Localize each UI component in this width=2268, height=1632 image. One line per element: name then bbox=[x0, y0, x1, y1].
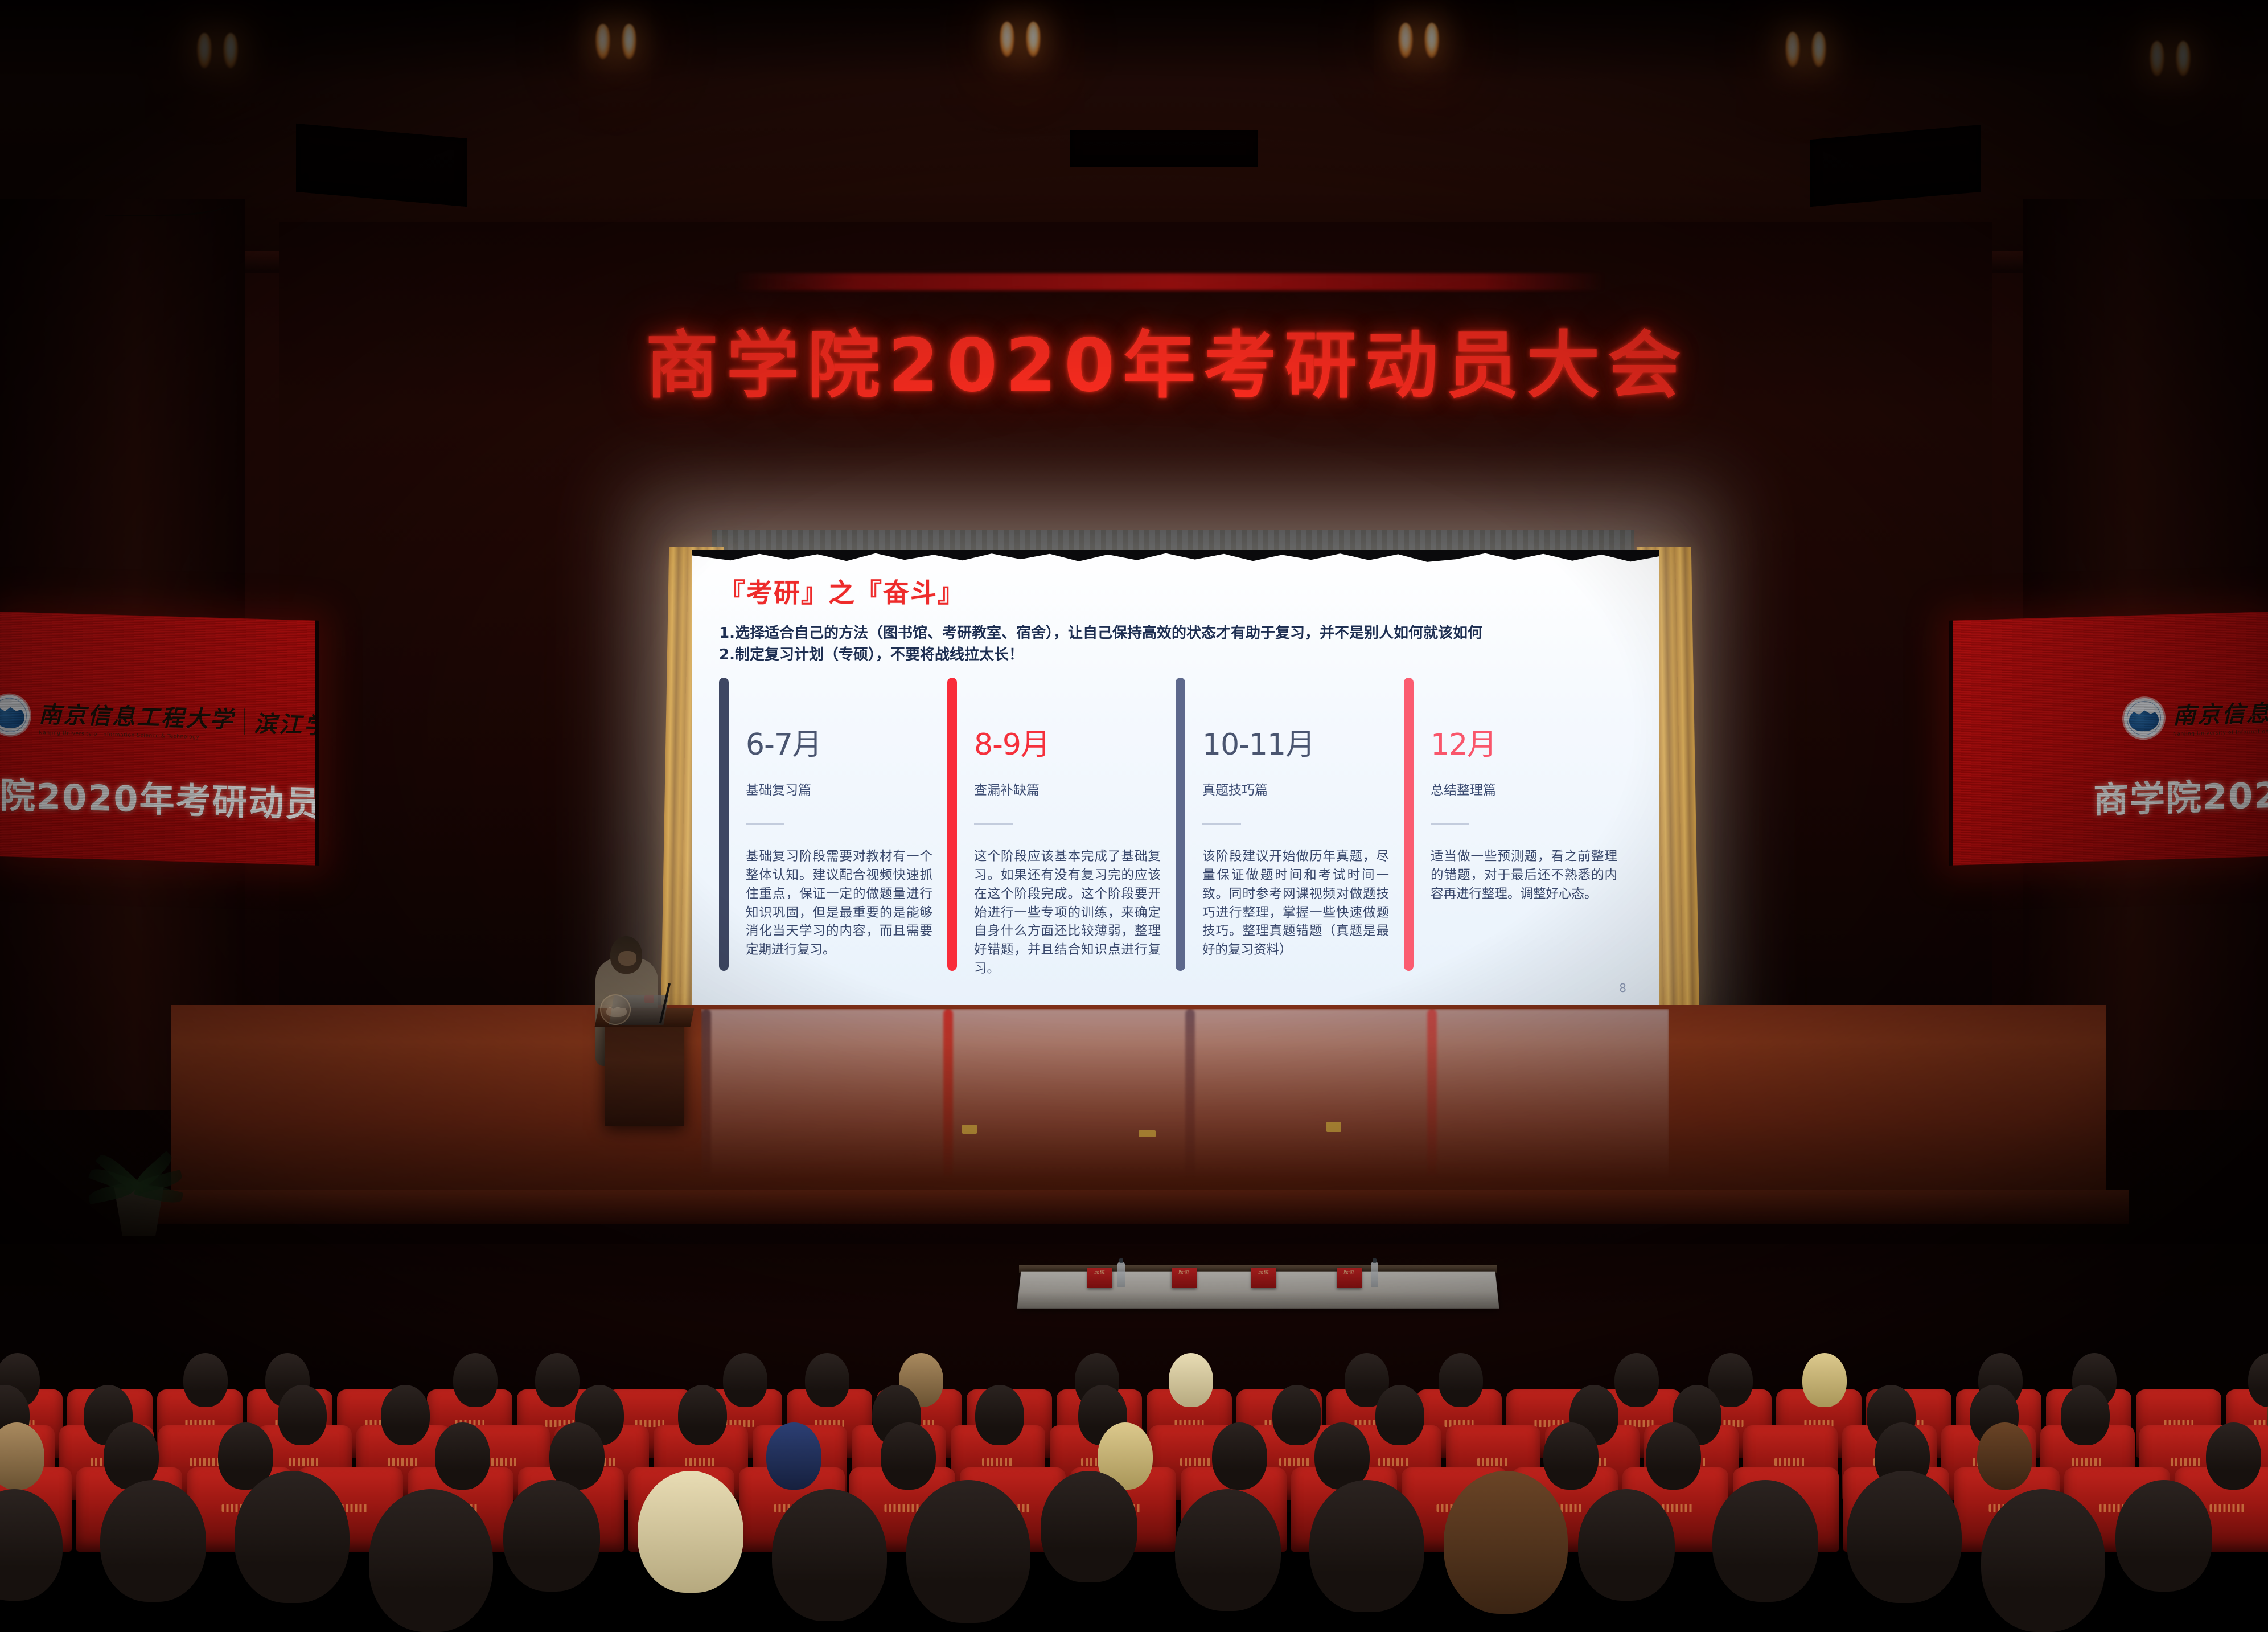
floor-tape-marker bbox=[1326, 1122, 1341, 1132]
audience-member bbox=[2061, 1385, 2110, 1445]
audience-member bbox=[453, 1353, 498, 1407]
audience-member bbox=[435, 1422, 490, 1490]
audience-member bbox=[1314, 1422, 1370, 1490]
audience-member bbox=[1981, 1489, 2105, 1632]
head-table-namecard: 席位 bbox=[1251, 1268, 1276, 1288]
timeline-column: 6-7月 基础复习篇 基础复习阶段需要对教材有一个整体认知。建议配合视频快速抓住… bbox=[719, 678, 947, 971]
audience-member bbox=[1646, 1422, 1701, 1490]
audience-member bbox=[1614, 1353, 1659, 1407]
side-screen-title-left: 学院2020年考研动员大会 bbox=[0, 765, 319, 829]
column-description: 这个阶段应该基本完成了基础复习。如果还有没有复习完的应该在这个阶段完成。这个阶段… bbox=[974, 847, 1161, 978]
university-name-cn: 南京信息工程大学 bbox=[39, 696, 235, 735]
audience-member bbox=[1578, 1489, 1675, 1601]
audience-member bbox=[535, 1353, 580, 1407]
ceiling-spotlight bbox=[194, 33, 246, 73]
column-subtitle: 总结整理篇 bbox=[1431, 779, 1617, 798]
side-led-screen-right: 南京信息工程大学 Nanjing University of Informati… bbox=[1949, 612, 2268, 866]
floor-tape-marker bbox=[962, 1125, 977, 1134]
column-accent-bar bbox=[1404, 678, 1414, 971]
ceiling-vent-panel bbox=[1070, 130, 1258, 167]
column-accent-bar bbox=[947, 678, 957, 971]
audience-member bbox=[503, 1480, 600, 1592]
column-accent-bar bbox=[1176, 678, 1185, 971]
audience-member bbox=[1847, 1471, 1962, 1603]
banner-title-text: 商学院2020年考研动员大会 bbox=[646, 306, 1688, 412]
head-table-namecard: 席位 bbox=[1087, 1268, 1112, 1288]
column-accent-bar bbox=[719, 678, 729, 971]
ceiling-spotlight bbox=[1395, 23, 1447, 63]
side-screen-logo-row: 南京信息工程大学 Nanjing University of Informati… bbox=[0, 695, 319, 745]
podium bbox=[605, 1012, 684, 1126]
audience-member bbox=[1439, 1353, 1483, 1407]
audience-member bbox=[235, 1471, 350, 1603]
led-accent-strip bbox=[734, 273, 1605, 290]
audience-member bbox=[678, 1385, 727, 1445]
audience-member bbox=[766, 1422, 821, 1490]
led-scanline-overlay bbox=[1953, 612, 2268, 865]
column-description: 基础复习阶段需要对教材有一个整体认知。建议配合视频快速抓住重点，保证一定的做题量… bbox=[746, 847, 932, 959]
ceiling-spotlight bbox=[996, 22, 1049, 61]
column-rule bbox=[746, 823, 784, 825]
audience-member bbox=[1977, 1422, 2032, 1490]
slide-bullet-list: 1.选择适合自己的方法（图书馆、考研教室、宿舍），让自己保持高效的状态才有助于复… bbox=[719, 622, 1632, 666]
audience-member bbox=[881, 1422, 936, 1490]
auditorium-hall: 商学院2020年考研动员大会 南京信息工程大学 Nanjing Universi… bbox=[0, 0, 2268, 1512]
audience-member bbox=[906, 1480, 1030, 1623]
audience-member bbox=[2206, 1422, 2261, 1490]
column-month-label: 8-9月 bbox=[974, 730, 1161, 760]
audience-member bbox=[1175, 1489, 1281, 1611]
audience-member bbox=[723, 1353, 767, 1407]
audience-member bbox=[1041, 1471, 1137, 1582]
head-table-namecard: 席位 bbox=[1337, 1268, 1362, 1288]
logo-divider bbox=[244, 708, 245, 735]
audience-member bbox=[100, 1480, 206, 1602]
audience-member bbox=[549, 1422, 605, 1490]
university-name-cn: 南京信息工程大学 bbox=[2173, 692, 2268, 731]
slide-timeline-columns: 6-7月 基础复习篇 基础复习阶段需要对教材有一个整体认知。建议配合视频快速抓住… bbox=[719, 678, 1632, 971]
audience-member bbox=[1712, 1480, 1818, 1602]
college-name-cn: 滨江学院 bbox=[254, 706, 319, 741]
side-screen-logo-row: 南京信息工程大学 Nanjing University of Informati… bbox=[2124, 692, 2268, 739]
audience-member bbox=[805, 1353, 849, 1407]
decorative-plant bbox=[74, 1127, 205, 1236]
water-bottle bbox=[1371, 1262, 1378, 1287]
projection-screen: 『考研』之『奋斗』 1.选择适合自己的方法（图书馆、考研教室、宿舍），让自己保持… bbox=[692, 550, 1659, 1005]
slide-bullet-1: 1.选择适合自己的方法（图书馆、考研教室、宿舍），让自己保持高效的状态才有助于复… bbox=[719, 622, 1632, 644]
column-month-label: 6-7月 bbox=[746, 730, 932, 760]
water-bottle bbox=[1117, 1262, 1125, 1287]
stage-floor-reflection bbox=[701, 1009, 1669, 1180]
column-rule bbox=[974, 823, 1013, 825]
audience-member bbox=[1272, 1385, 1321, 1445]
column-subtitle: 基础复习篇 bbox=[746, 779, 932, 798]
column-description: 适当做一些预测题，看之前整理的错题，对于最后还不熟悉的内容再进行整理。调整好心态… bbox=[1431, 847, 1617, 904]
audience-member bbox=[1169, 1353, 1213, 1407]
audience-member bbox=[1802, 1353, 1847, 1407]
column-description: 该阶段建议开始做历年真题，尽量保证做题时间和考试时间一致。同时参考网课视频对做题… bbox=[1202, 847, 1389, 959]
ceiling-spotlight bbox=[1782, 32, 1834, 72]
floor-tape-marker bbox=[1139, 1130, 1156, 1137]
column-month-label: 12月 bbox=[1431, 730, 1617, 760]
podium-university-emblem-icon bbox=[600, 994, 631, 1025]
audience-member bbox=[1375, 1385, 1424, 1445]
timeline-column: 12月 总结整理篇 适当做一些预测题，看之前整理的错题，对于最后还不熟悉的内容再… bbox=[1404, 678, 1632, 971]
presentation-slide: 『考研』之『奋斗』 1.选择适合自己的方法（图书馆、考研教室、宿舍），让自己保持… bbox=[692, 550, 1659, 1005]
slide-title: 『考研』之『奋斗』 bbox=[719, 572, 1632, 610]
ceiling-spotlight bbox=[592, 24, 644, 64]
head-table-namecard: 席位 bbox=[1172, 1268, 1197, 1288]
stage-front-edge bbox=[148, 1190, 2129, 1224]
led-banner: 商学院2020年考研动员大会 bbox=[666, 310, 1668, 407]
side-led-screen-left: 南京信息工程大学 Nanjing University of Informati… bbox=[0, 612, 319, 866]
audience-member bbox=[1212, 1422, 1267, 1490]
side-screen-title-right: 商学院2020年考 bbox=[2093, 764, 2268, 823]
ceiling-spotlight bbox=[2146, 41, 2199, 81]
column-rule bbox=[1202, 823, 1241, 825]
audience-member bbox=[975, 1385, 1024, 1445]
column-month-label: 10-11月 bbox=[1202, 730, 1389, 760]
audience-member bbox=[638, 1471, 743, 1593]
audience-member bbox=[2115, 1480, 2212, 1592]
audience-member bbox=[1543, 1422, 1599, 1490]
audience-member bbox=[381, 1385, 430, 1445]
university-emblem-icon bbox=[0, 695, 30, 736]
audience-member bbox=[1444, 1471, 1568, 1614]
speaker-face bbox=[618, 951, 636, 966]
timeline-column: 10-11月 真题技巧篇 该阶段建议开始做历年真题，尽量保证做题时间和考试时间一… bbox=[1176, 678, 1404, 971]
audience-member bbox=[369, 1489, 493, 1632]
audience-seating: 席位 席位 席位 席位 bbox=[0, 1244, 2268, 1512]
podium-area bbox=[575, 928, 700, 1156]
timeline-column: 8-9月 查漏补缺篇 这个阶段应该基本完成了基础复习。如果还有没有复习完的应该在… bbox=[947, 678, 1176, 971]
audience-member bbox=[104, 1422, 159, 1490]
audience-member bbox=[772, 1489, 887, 1621]
audience-member bbox=[183, 1353, 228, 1407]
audience-member bbox=[278, 1385, 327, 1445]
slide-page-number: 8 bbox=[1619, 981, 1626, 995]
column-rule bbox=[1431, 823, 1469, 825]
column-subtitle: 查漏补缺篇 bbox=[974, 779, 1161, 798]
audience-member bbox=[1309, 1480, 1424, 1612]
university-emblem-icon bbox=[2124, 698, 2164, 739]
slide-bullet-2: 2.制定复习计划（专硕），不要将战线拉太长！ bbox=[719, 644, 1632, 666]
column-subtitle: 真题技巧篇 bbox=[1202, 779, 1389, 798]
stage-valance bbox=[712, 530, 1634, 552]
